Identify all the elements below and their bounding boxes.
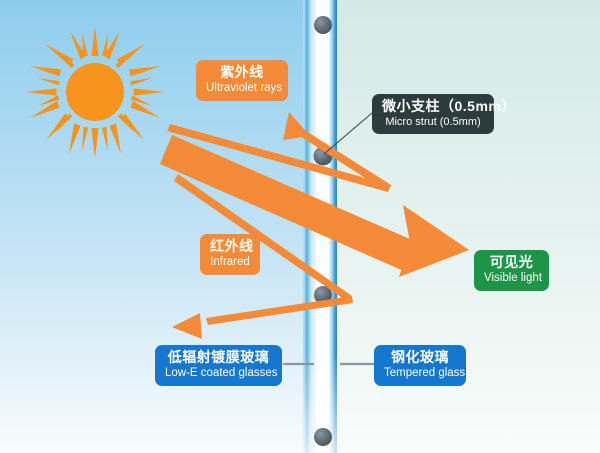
label-low-e-cn: 低辐射镀膜玻璃	[165, 350, 272, 366]
label-tempered-en: Tempered glass	[384, 367, 456, 380]
label-micro-strut-en: Micro strut (0.5mm)	[382, 116, 484, 128]
label-visible-light[interactable]: 可见光 Visible light	[474, 250, 549, 291]
label-infrared-en: Infrared	[210, 256, 250, 269]
sun-core	[66, 63, 124, 121]
micro-strut-dot	[314, 428, 332, 446]
solar-glass-diagram: 紫外线 Ultraviolet rays 红外线 Infrared 可见光 Vi…	[0, 0, 600, 453]
label-infrared[interactable]: 红外线 Infrared	[200, 234, 260, 275]
label-ultraviolet-cn: 紫外线	[206, 65, 278, 81]
label-tempered-glass[interactable]: 钢化玻璃 Tempered glass	[374, 345, 466, 386]
label-ultraviolet[interactable]: 紫外线 Ultraviolet rays	[196, 60, 288, 101]
label-micro-strut-cn: 微小支柱（0.5mm）	[382, 99, 484, 115]
label-low-e-en: Low-E coated glasses	[165, 367, 272, 380]
micro-strut-dot	[314, 16, 332, 34]
label-micro-strut[interactable]: 微小支柱（0.5mm） Micro strut (0.5mm)	[372, 94, 494, 134]
label-tempered-cn: 钢化玻璃	[384, 350, 456, 366]
label-low-e-coated-glasses[interactable]: 低辐射镀膜玻璃 Low-E coated glasses	[155, 345, 282, 386]
diagram-canvas	[0, 0, 600, 453]
label-visible-light-en: Visible light	[484, 272, 539, 285]
label-visible-light-cn: 可见光	[484, 255, 539, 271]
label-infrared-cn: 红外线	[210, 239, 250, 255]
label-ultraviolet-en: Ultraviolet rays	[206, 82, 278, 95]
